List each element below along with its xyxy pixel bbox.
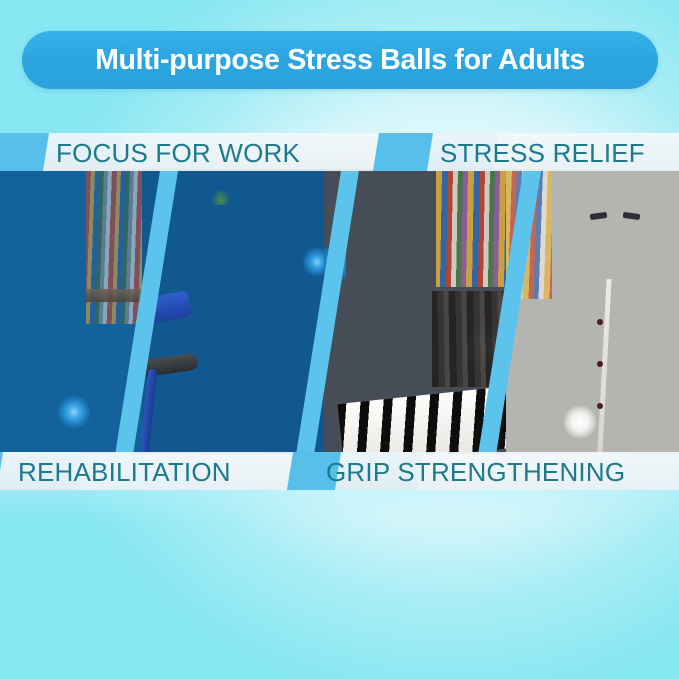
jersey-button [597,319,603,325]
label-stress-relief: STRESS RELIEF [440,134,645,172]
photo-collage [0,169,679,454]
label-rehabilitation: REHABILITATION [18,453,231,491]
plant-decor [212,189,230,205]
title-banner-pill: Multi-purpose Stress Balls for Adults [22,31,658,89]
page-title: Multi-purpose Stress Balls for Adults [95,46,585,75]
jersey-button [597,361,603,367]
product-feature-image: Multi-purpose Stress Balls for Adults [0,0,679,679]
label-focus-for-work: FOCUS FOR WORK [56,134,300,172]
jersey-button [597,403,603,409]
label-grip-strengthening: GRIP STRENGTHENING [326,453,625,491]
